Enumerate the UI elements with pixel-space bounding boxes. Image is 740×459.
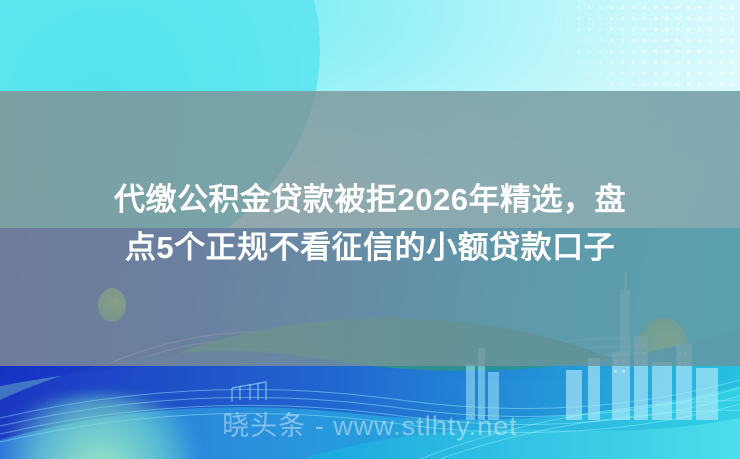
title-line-2: 点5个正规不看征信的小额贷款口子 bbox=[38, 224, 702, 272]
site-watermark: 晓头条 - www.stlhty.net bbox=[0, 404, 740, 443]
title-line-1: 代缴公积金贷款被拒2026年精选，盘 bbox=[38, 176, 702, 224]
promo-banner: 代缴公积金贷款被拒2026年精选，盘 点5个正规不看征信的小额贷款口子 晓头条 … bbox=[0, 0, 740, 459]
page-title: 代缴公积金贷款被拒2026年精选，盘 点5个正规不看征信的小额贷款口子 bbox=[0, 176, 740, 272]
